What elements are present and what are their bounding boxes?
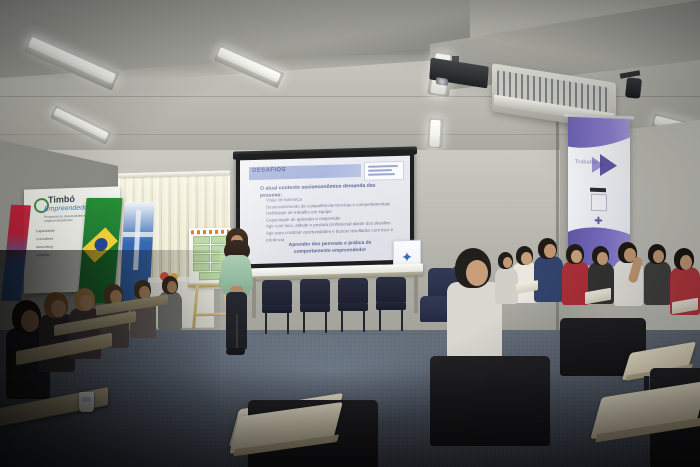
- person-face: [571, 250, 582, 263]
- person-torso: [495, 267, 518, 304]
- person-face: [167, 281, 177, 293]
- person-face: [544, 244, 556, 258]
- white-cup[interactable]: [79, 392, 94, 412]
- person-torso: [644, 261, 671, 305]
- person-face: [521, 252, 532, 265]
- person-face: [466, 260, 488, 286]
- cup-label: [82, 397, 91, 402]
- person-torso: [534, 256, 563, 302]
- person-face: [653, 250, 664, 263]
- person-face: [21, 310, 39, 332]
- person-face: [80, 295, 93, 310]
- person-face: [503, 257, 512, 268]
- person-face: [680, 255, 692, 270]
- conference-room-photo: Timbó Empreendedor Programa de desenvolv…: [0, 0, 700, 467]
- person-face: [597, 252, 608, 265]
- person-face: [51, 300, 66, 317]
